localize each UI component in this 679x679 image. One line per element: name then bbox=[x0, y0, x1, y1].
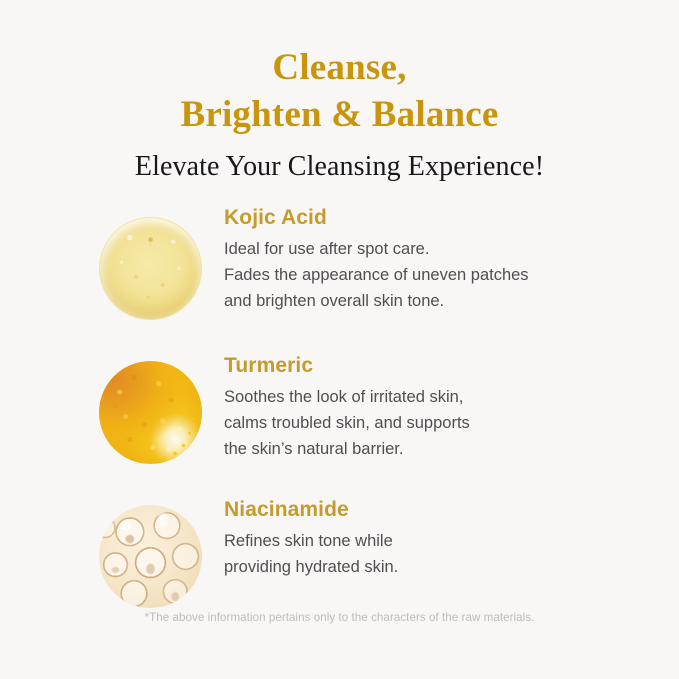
ingredient-title: Niacinamide bbox=[224, 497, 398, 522]
niacinamide-bubbles-swatch bbox=[99, 505, 202, 608]
list-item: Turmeric Soothes the look of irritated s… bbox=[0, 353, 679, 464]
product-ingredient-infographic: Cleanse, Brighten & Balance Elevate Your… bbox=[0, 0, 679, 679]
ingredient-description: Ideal for use after spot care. Fades the… bbox=[224, 237, 529, 315]
headline-line-1: Cleanse, bbox=[272, 47, 406, 88]
ingredient-list: Kojic Acid Ideal for use after spot care… bbox=[0, 205, 679, 608]
description-line: Refines skin tone while bbox=[224, 529, 398, 555]
header: Cleanse, Brighten & Balance Elevate Your… bbox=[0, 44, 679, 183]
page-title: Cleanse, Brighten & Balance bbox=[0, 44, 679, 139]
description-line: calms troubled skin, and supports bbox=[224, 411, 470, 437]
ingredient-text-block: Kojic Acid Ideal for use after spot care… bbox=[202, 205, 529, 315]
description-line: the skin’s natural barrier. bbox=[224, 437, 470, 463]
page-subtitle: Elevate Your Cleansing Experience! bbox=[0, 150, 679, 184]
ingredient-title: Turmeric bbox=[224, 353, 470, 378]
description-line: Ideal for use after spot care. bbox=[224, 237, 529, 263]
ingredient-text-block: Niacinamide Refines skin tone while prov… bbox=[202, 497, 398, 581]
turmeric-powder-swatch bbox=[99, 361, 202, 464]
ingredient-description: Soothes the look of irritated skin, calm… bbox=[224, 385, 470, 463]
list-item: Niacinamide Refines skin tone while prov… bbox=[0, 497, 679, 608]
list-item: Kojic Acid Ideal for use after spot care… bbox=[0, 205, 679, 320]
description-line: and brighten overall skin tone. bbox=[224, 289, 529, 315]
ingredient-text-block: Turmeric Soothes the look of irritated s… bbox=[202, 353, 470, 463]
description-line: Soothes the look of irritated skin, bbox=[224, 385, 470, 411]
description-line: providing hydrated skin. bbox=[224, 555, 398, 581]
headline-line-2: Brighten & Balance bbox=[0, 91, 679, 138]
description-line: Fades the appearance of uneven patches bbox=[224, 263, 529, 289]
ingredient-title: Kojic Acid bbox=[224, 205, 529, 230]
footnote-disclaimer: *The above information pertains only to … bbox=[0, 610, 679, 626]
ingredient-description: Refines skin tone while providing hydrat… bbox=[224, 529, 398, 581]
kojic-acid-gel-swatch bbox=[99, 217, 202, 320]
